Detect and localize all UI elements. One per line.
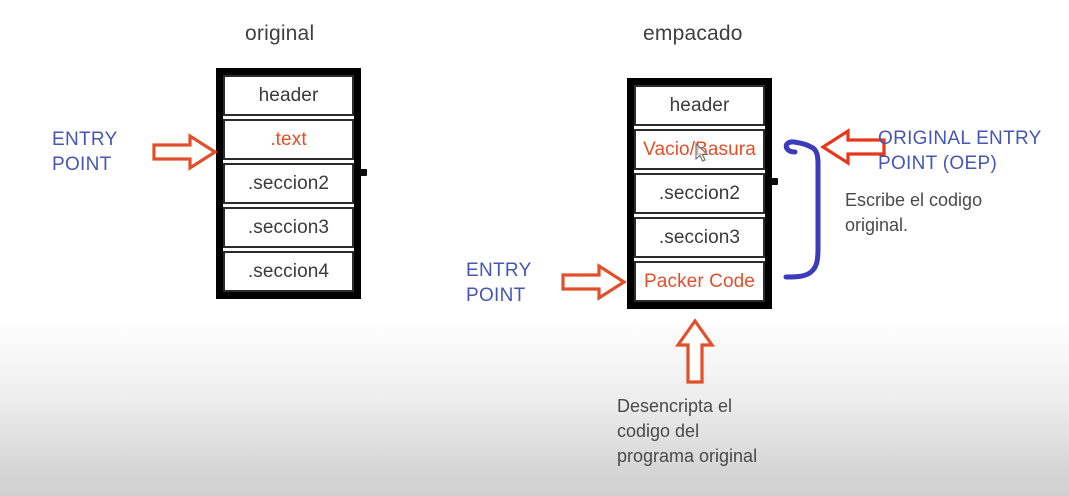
entry-point-label-left: ENTRY POINT bbox=[52, 127, 118, 177]
arrow-right-icon-left-entry bbox=[152, 133, 218, 171]
packed-file-box: header Vacio/Basura .seccion2 .seccion3 … bbox=[627, 78, 772, 309]
empacado-title: empacado bbox=[643, 22, 743, 46]
section-row-seccion3: .seccion3 bbox=[223, 207, 354, 248]
packed-row-header: header bbox=[634, 85, 765, 126]
resize-handle-packed-box[interactable] bbox=[771, 178, 778, 185]
resize-handle-original-box[interactable] bbox=[360, 169, 367, 176]
arrow-up-icon-decrypt bbox=[675, 318, 715, 384]
original-title: original bbox=[245, 22, 314, 46]
diagram-canvas: original empacado header .text .seccion2… bbox=[0, 0, 1069, 496]
entry-point-label-right: ENTRY POINT bbox=[466, 258, 532, 308]
packed-row-seccion3: .seccion3 bbox=[634, 217, 765, 258]
packed-row-packer-code: Packer Code bbox=[634, 261, 765, 302]
desencripta-codigo-note: Desencripta el codigo del programa origi… bbox=[617, 394, 757, 469]
original-file-box: header .text .seccion2 .seccion3 .seccio… bbox=[216, 68, 361, 299]
section-row-header: header bbox=[223, 75, 354, 116]
section-row-text: .text bbox=[223, 119, 354, 160]
section-row-seccion4: .seccion4 bbox=[223, 251, 354, 292]
packed-row-seccion2: .seccion2 bbox=[634, 173, 765, 214]
mouse-cursor-icon bbox=[694, 143, 710, 163]
escribe-codigo-note: Escribe el codigo original. bbox=[845, 188, 982, 238]
arrow-right-icon-packer-entry bbox=[561, 263, 627, 301]
section-row-seccion2: .seccion2 bbox=[223, 163, 354, 204]
arrow-left-icon-oep bbox=[820, 128, 886, 166]
original-entry-point-label: ORIGINAL ENTRY POINT (OEP) bbox=[878, 126, 1042, 176]
